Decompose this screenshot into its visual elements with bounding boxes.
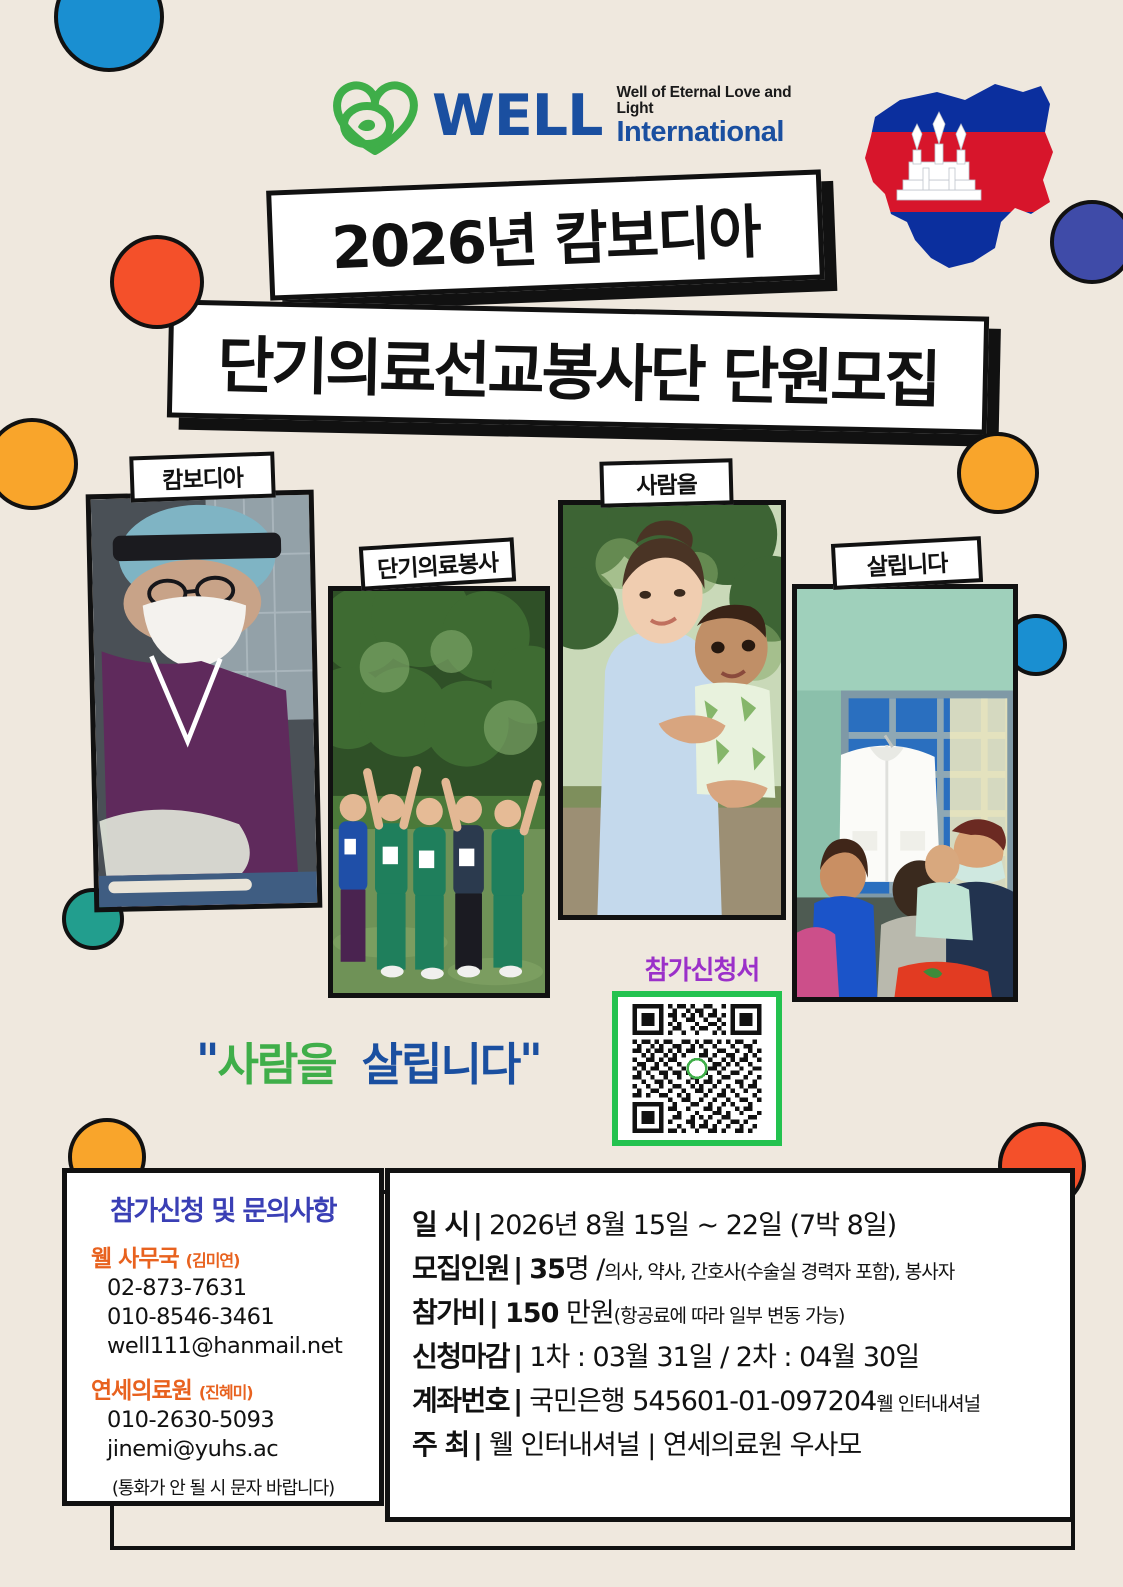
info-label-deadline: 신청마감 (412, 1335, 509, 1375)
info-bar-2: | (489, 1296, 499, 1329)
contact-email-2[interactable]: jinemi@yuhs.ac (107, 1435, 379, 1464)
circle-red-left (110, 235, 204, 329)
circle-orange-left (0, 418, 78, 510)
slogan-close-quote: " (519, 1034, 540, 1087)
contact-phone-3[interactable]: 010-2630-5093 (107, 1406, 379, 1435)
info-label-account: 계좌번호 (412, 1379, 509, 1419)
logo-tagline: Well of Eternal Love and Light (616, 85, 792, 118)
contact-phone-2[interactable]: 010-8546-3461 (107, 1303, 379, 1332)
poster-canvas: WELL Well of Eternal Love and Light Inte… (0, 0, 1123, 1587)
photo-tag-4: 살립니다 (831, 536, 983, 590)
info-note-headcount: 의사, 약사, 간호사(수술실 경력자 포함), 봉사자 (604, 1257, 954, 1284)
contact-phone-1[interactable]: 02-873-7631 (107, 1274, 379, 1303)
photo-tag-2: 단기의료봉사 (359, 537, 516, 590)
slogan-part2: 살립니다 (362, 1028, 520, 1093)
poster-title-line1: 2026년 캄보디아 (266, 169, 825, 300)
info-bar-3: | (513, 1340, 523, 1373)
contact-org-2: 연세의료원 (진혜미) (91, 1371, 379, 1405)
qr-canvas (625, 1004, 769, 1133)
info-value-fee: 만원 (558, 1298, 613, 1329)
info-value-headcount: 명 / (565, 1254, 605, 1285)
photo-clinic-consultation (792, 584, 1018, 1002)
poster-slogan: " 사람을 살립니다 " (196, 1028, 596, 1092)
slogan-part1: 사람을 (217, 1028, 335, 1093)
info-panel: 일 시 | 2026년 8월 15일 ~ 22일 (7박 8일) 모집인원 | … (385, 1168, 1075, 1522)
info-bar-4: | (513, 1384, 523, 1417)
well-international-logo: WELL Well of Eternal Love and Light Inte… (332, 72, 792, 160)
contact-note: (통화가 안 될 시 문자 바랍니다) (67, 1474, 379, 1500)
info-row-date: 일 시 | 2026년 8월 15일 ~ 22일 (7박 8일) (412, 1203, 1070, 1243)
photo-tag-3: 사람을 (599, 458, 733, 507)
info-row-headcount: 모집인원 | 35명 / 의사, 약사, 간호사(수술실 경력자 포함), 봉사… (412, 1247, 1070, 1287)
info-value-headcount-number: 35 (529, 1254, 565, 1285)
info-value-fee-number: 150 (505, 1298, 558, 1329)
contact-org-1: 웰 사무국 (김미연) (91, 1239, 379, 1273)
contact-email-1[interactable]: well111@hanmail.net (107, 1332, 379, 1361)
info-note-account: 웰 인터내셔널 (876, 1389, 980, 1416)
info-value-date: 2026년 8월 15일 ~ 22일 (7박 8일) (489, 1203, 896, 1242)
qr-label: 참가신청서 (622, 950, 782, 987)
info-label-headcount: 모집인원 (412, 1247, 509, 1287)
circle-blue-top-left (54, 0, 164, 72)
contact-org-2-person: (진혜미) (199, 1383, 253, 1402)
info-value-account: 국민은행 545601-01-097204 (529, 1379, 876, 1418)
slogan-open-quote: " (196, 1034, 217, 1087)
well-heart-logo-icon (332, 77, 418, 155)
info-bar-1: | (513, 1252, 523, 1285)
photo-surgeon (86, 490, 323, 913)
info-row-fee: 참가비 | 150 만원 (항공료에 따라 일부 변동 가능) (412, 1291, 1070, 1331)
cambodia-flag-map-icon (845, 62, 1060, 287)
info-label-date: 일 시 (412, 1203, 469, 1243)
circle-orange-right (957, 432, 1039, 514)
logo-wordmark: WELL (432, 88, 602, 145)
info-row-deadline: 신청마감 | 1차 : 03월 31일 / 2차 : 04월 30일 (412, 1335, 1070, 1375)
contact-org-2-name: 연세의료원 (91, 1378, 192, 1404)
info-label-host: 주 최 (412, 1423, 469, 1463)
contact-panel: 참가신청 및 문의사항 웰 사무국 (김미연) 02-873-7631 010-… (62, 1168, 384, 1506)
info-bar-0: | (473, 1208, 483, 1241)
info-row-account: 계좌번호 | 국민은행 545601-01-097204 웰 인터내셔널 (412, 1379, 1070, 1419)
poster-title-line2: 단기의료선교봉사단 단원모집 (167, 299, 989, 434)
photo-volunteer-and-baby (558, 500, 786, 920)
photo-medical-team (328, 586, 550, 998)
qr-code[interactable] (612, 991, 782, 1146)
photo-tag-1: 캄보디아 (129, 451, 276, 502)
info-label-fee: 참가비 (412, 1291, 485, 1331)
contact-org-1-name: 웰 사무국 (91, 1246, 179, 1272)
info-bar-5: | (473, 1428, 483, 1461)
logo-subname: International (616, 117, 792, 147)
info-value-host: 웰 인터내셔널 | 연세의료원 우사모 (489, 1423, 861, 1462)
contact-title: 참가신청 및 문의사항 (67, 1189, 379, 1228)
info-row-host: 주 최 | 웰 인터내셔널 | 연세의료원 우사모 (412, 1423, 1070, 1463)
info-note-fee: (항공료에 따라 일부 변동 가능) (614, 1301, 845, 1328)
info-value-deadline: 1차 : 03월 31일 / 2차 : 04월 30일 (529, 1335, 919, 1374)
circle-indigo-right (1050, 200, 1123, 284)
contact-org-1-person: (김미연) (186, 1251, 240, 1270)
